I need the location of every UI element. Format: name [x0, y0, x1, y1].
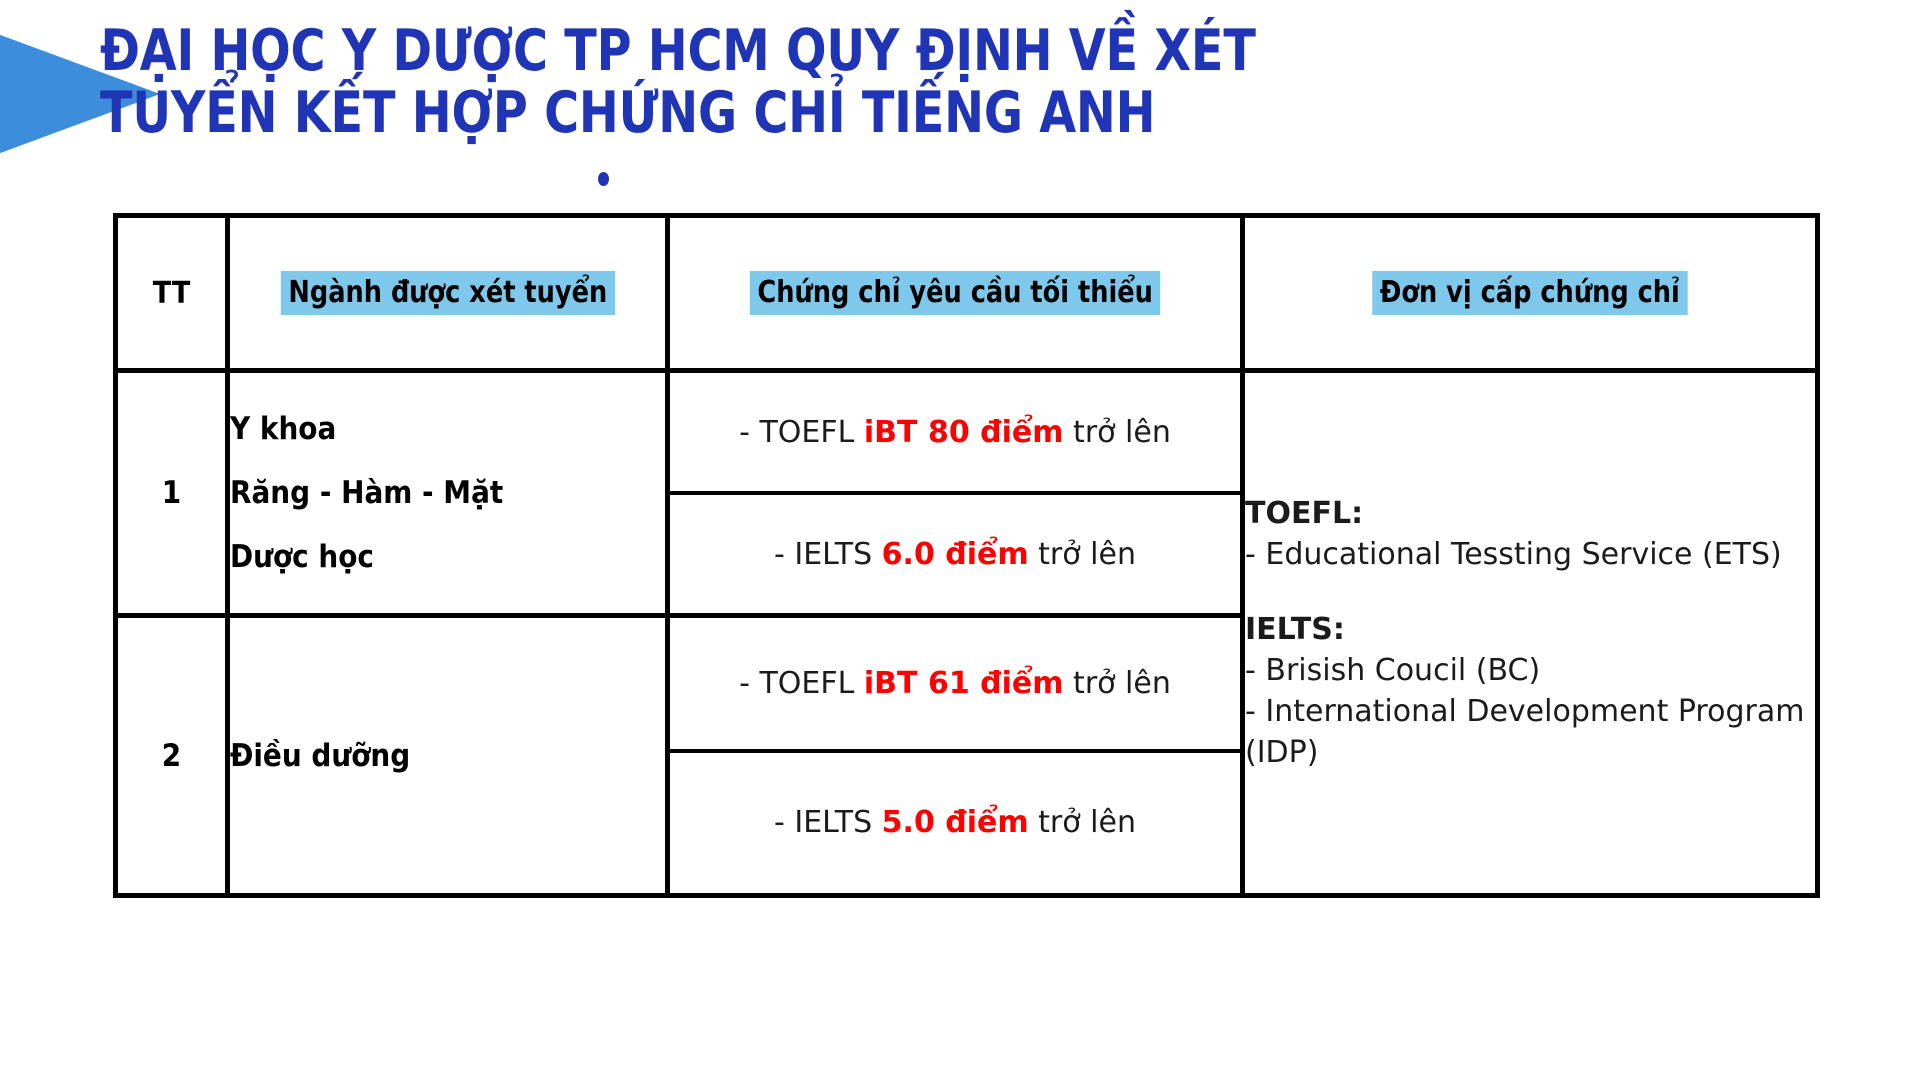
header-label-issuer: Đơn vị cấp chứng chỉ [1372, 271, 1687, 315]
major-item: Răng - Hàm - Mặt [230, 461, 665, 525]
row-majors-1: Y khoa Răng - Hàm - Mặt Dược học [228, 371, 668, 616]
certificate-value: iBT 61 điểm [864, 666, 1064, 701]
page-title-line-1: ĐẠI HỌC Y DƯỢC TP HCM QUY ĐỊNH VỀ XÉT [100, 20, 1365, 82]
header-cell-certificate: Chứng chỉ yêu cầu tối thiểu [668, 216, 1243, 371]
header-label-major: Ngành được xét tuyển [280, 271, 614, 315]
major-item: Dược học [230, 525, 665, 589]
issuer-line: - Brisish Coucil (BC) [1245, 650, 1815, 691]
admission-requirements-table: TT Ngành được xét tuyển Chứng chỉ yêu cầ… [113, 213, 1820, 898]
header-cell-major: Ngành được xét tuyển [228, 216, 668, 371]
certificate-item: - TOEFL iBT 61 điểm trở lên [670, 619, 1240, 751]
certificate-value: iBT 80 điểm [864, 415, 1064, 450]
row-majors-2: Điều dưỡng [228, 616, 668, 896]
certificate-sublist-1: - TOEFL iBT 80 điểm trở lên - IELTS 6.0 … [670, 373, 1240, 613]
certificate-item: - TOEFL iBT 80 điểm trở lên [670, 373, 1240, 493]
issuer-label-ielts: IELTS: [1245, 609, 1815, 650]
certificate-prefix: - TOEFL [739, 415, 864, 450]
table-header-row: TT Ngành được xét tuyển Chứng chỉ yêu cầ… [116, 216, 1818, 371]
issuer-line: - Educational Tessting Service (ETS) [1245, 534, 1815, 575]
certificate-prefix: - TOEFL [739, 666, 864, 701]
certificate-suffix: trở lên [1029, 537, 1136, 572]
certificate-sublist-2: - TOEFL iBT 61 điểm trở lên - IELTS 5.0 … [670, 619, 1240, 893]
page-title-line-2: TUYỂN KẾT HỢP CHỨNG CHỈ TIẾNG ANH [100, 82, 1365, 144]
header-label-certificate: Chứng chỉ yêu cầu tối thiểu [750, 271, 1161, 315]
major-item: Y khoa [230, 397, 665, 461]
decorative-dot-icon [598, 172, 609, 186]
certificate-suffix: trở lên [1064, 666, 1171, 701]
issuer-label-toefl: TOEFL: [1245, 493, 1815, 534]
certificate-item: - IELTS 5.0 điểm trở lên [670, 751, 1240, 893]
page-title: ĐẠI HỌC Y DƯỢC TP HCM QUY ĐỊNH VỀ XÉT TU… [100, 20, 1460, 144]
certificate-suffix: trở lên [1064, 415, 1171, 450]
row-certificates-1: - TOEFL iBT 80 điểm trở lên - IELTS 6.0 … [668, 371, 1243, 616]
major-item: Điều dưỡng [230, 724, 665, 788]
row-certificates-2: - TOEFL iBT 61 điểm trở lên - IELTS 5.0 … [668, 616, 1243, 896]
row-index-1: 1 [116, 371, 228, 616]
certificate-item: - IELTS 6.0 điểm trở lên [670, 493, 1240, 613]
issuer-line: - International Development Program (IDP… [1245, 691, 1815, 773]
header-label-tt: TT [153, 276, 191, 311]
row-index-2: 2 [116, 616, 228, 896]
header-cell-tt: TT [116, 216, 228, 371]
issuer-cell: TOEFL: - Educational Tessting Service (E… [1243, 371, 1818, 896]
issuer-spacer [1245, 575, 1815, 609]
table-row: 1 Y khoa Răng - Hàm - Mặt Dược học - TOE… [116, 371, 1818, 616]
certificate-value: 6.0 điểm [882, 537, 1029, 572]
certificate-value: 5.0 điểm [882, 805, 1029, 840]
certificate-suffix: trở lên [1029, 805, 1136, 840]
certificate-prefix: - IELTS [774, 537, 882, 572]
header-cell-issuer: Đơn vị cấp chứng chỉ [1243, 216, 1818, 371]
certificate-prefix: - IELTS [774, 805, 882, 840]
